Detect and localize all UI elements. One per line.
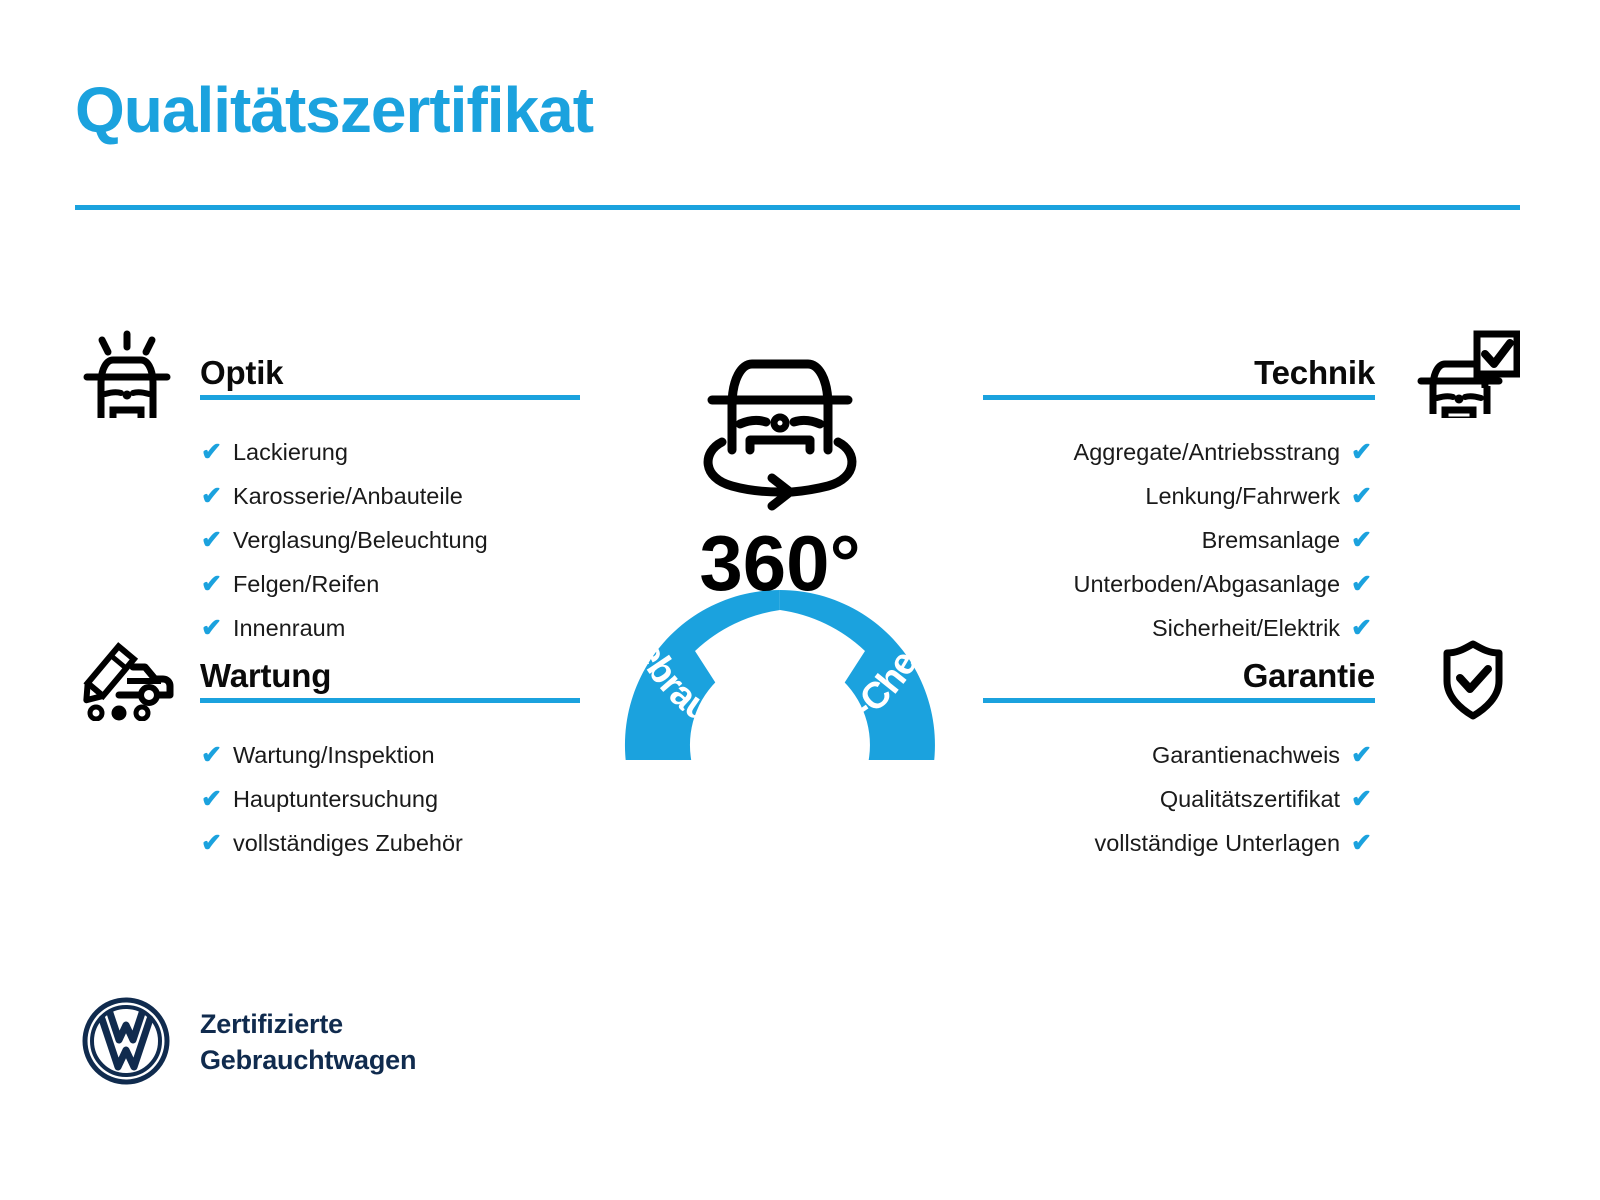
check-icon: ✔ [1351, 528, 1372, 553]
brand-line-2: Gebrauchtwagen [200, 1043, 416, 1079]
list-item-label: Wartung/Inspektion [233, 744, 435, 768]
car-front-checkbox-icon [1415, 330, 1520, 418]
list-item-label: Lenkung/Fahrwerk [1145, 485, 1340, 509]
check-icon: ✔ [1351, 743, 1372, 768]
brand-line-1: Zertifizierte [200, 1007, 416, 1043]
check-icon: ✔ [1351, 572, 1372, 597]
checklist: ✔Lackierung ✔Karosserie/Anbauteile ✔Verg… [75, 440, 585, 641]
list-item-label: Unterboden/Abgasanlage [1074, 573, 1341, 597]
list-item-label: Garantienachweis [1152, 744, 1340, 768]
list-item-label: vollständiges Zubehör [233, 832, 463, 856]
shield-check-icon [1415, 633, 1520, 721]
check-icon: ✔ [201, 528, 222, 553]
list-item-label: Lackierung [233, 441, 348, 465]
volkswagen-logo-icon [80, 995, 172, 1087]
check-icon: ✔ [201, 743, 222, 768]
check-icon: ✔ [201, 440, 222, 465]
car-front-shine-icon [75, 330, 180, 418]
section-divider [200, 395, 580, 400]
list-item-label: Hauptuntersuchung [233, 788, 438, 812]
section-title: Optik [200, 354, 283, 392]
check-icon: ✔ [1351, 831, 1372, 856]
list-item: ✔Verglasung/Beleuchtung [201, 528, 585, 553]
section-header: Garantie [980, 633, 1520, 721]
certificate-page: Qualitätszertifikat [0, 0, 1600, 1200]
title-divider [75, 205, 1520, 210]
check-icon: ✔ [1351, 440, 1372, 465]
list-item-label: Verglasung/Beleuchtung [233, 529, 488, 553]
section-wartung: Wartung ✔Wartung/Inspektion ✔Hauptunters… [75, 633, 585, 856]
section-divider [983, 698, 1375, 703]
badge-center-label: 360° [699, 519, 860, 607]
check-icon: ✔ [201, 787, 222, 812]
list-item: vollständige Unterlagen✔ [980, 831, 1372, 856]
list-item: ✔Felgen/Reifen [201, 572, 585, 597]
list-item: ✔Wartung/Inspektion [201, 743, 585, 768]
list-item-label: Qualitätszertifikat [1160, 788, 1340, 812]
section-title: Wartung [200, 657, 331, 695]
list-item: ✔Hauptuntersuchung [201, 787, 585, 812]
section-header: Optik [75, 330, 585, 418]
checklist: Aggregate/Antriebsstrang✔ Lenkung/Fahrwe… [980, 440, 1520, 641]
section-garantie: Garantie Garantienachweis✔ Qualitätszert… [980, 633, 1520, 856]
list-item: Qualitätszertifikat✔ [980, 787, 1372, 812]
section-title: Garantie [1243, 657, 1375, 695]
list-item: ✔Lackierung [201, 440, 585, 465]
list-item-label: Felgen/Reifen [233, 573, 379, 597]
list-item: Bremsanlage✔ [980, 528, 1372, 553]
list-item: ✔Karosserie/Anbauteile [201, 484, 585, 509]
section-optik: Optik ✔Lackierung ✔Karosserie/Anbauteile… [75, 330, 585, 641]
brand-lockup: Zertifizierte Gebrauchtwagen [80, 995, 550, 1095]
list-item-label: Bremsanlage [1202, 529, 1340, 553]
badge-360-gebrauchtwagen-check: Gebrauchtwagen-Check 360° [565, 300, 995, 760]
section-title: Technik [1254, 354, 1375, 392]
list-item-label: vollständige Unterlagen [1094, 832, 1340, 856]
check-icon: ✔ [1351, 484, 1372, 509]
list-item-label: Aggregate/Antriebsstrang [1074, 441, 1341, 465]
section-divider [983, 395, 1375, 400]
list-item: ✔vollständiges Zubehör [201, 831, 585, 856]
check-icon: ✔ [201, 831, 222, 856]
car-rotate-360-icon [708, 364, 852, 506]
list-item: Garantienachweis✔ [980, 743, 1372, 768]
list-item: Aggregate/Antriebsstrang✔ [980, 440, 1372, 465]
section-technik: Technik Aggregate/Antriebsstrang✔ Lenkun… [980, 330, 1520, 641]
section-header: Wartung [75, 633, 585, 721]
pencil-car-service-icon [75, 633, 180, 721]
checklist: ✔Wartung/Inspektion ✔Hauptuntersuchung ✔… [75, 743, 585, 856]
list-item: Unterboden/Abgasanlage✔ [980, 572, 1372, 597]
page-title: Qualitätszertifikat [75, 78, 593, 142]
section-divider [200, 698, 580, 703]
check-icon: ✔ [201, 572, 222, 597]
list-item-label: Karosserie/Anbauteile [233, 485, 463, 509]
checklist: Garantienachweis✔ Qualitätszertifikat✔ v… [980, 743, 1520, 856]
check-icon: ✔ [1351, 787, 1372, 812]
check-icon: ✔ [201, 484, 222, 509]
brand-text: Zertifizierte Gebrauchtwagen [200, 1007, 416, 1079]
list-item: Lenkung/Fahrwerk✔ [980, 484, 1372, 509]
section-header: Technik [980, 330, 1520, 418]
